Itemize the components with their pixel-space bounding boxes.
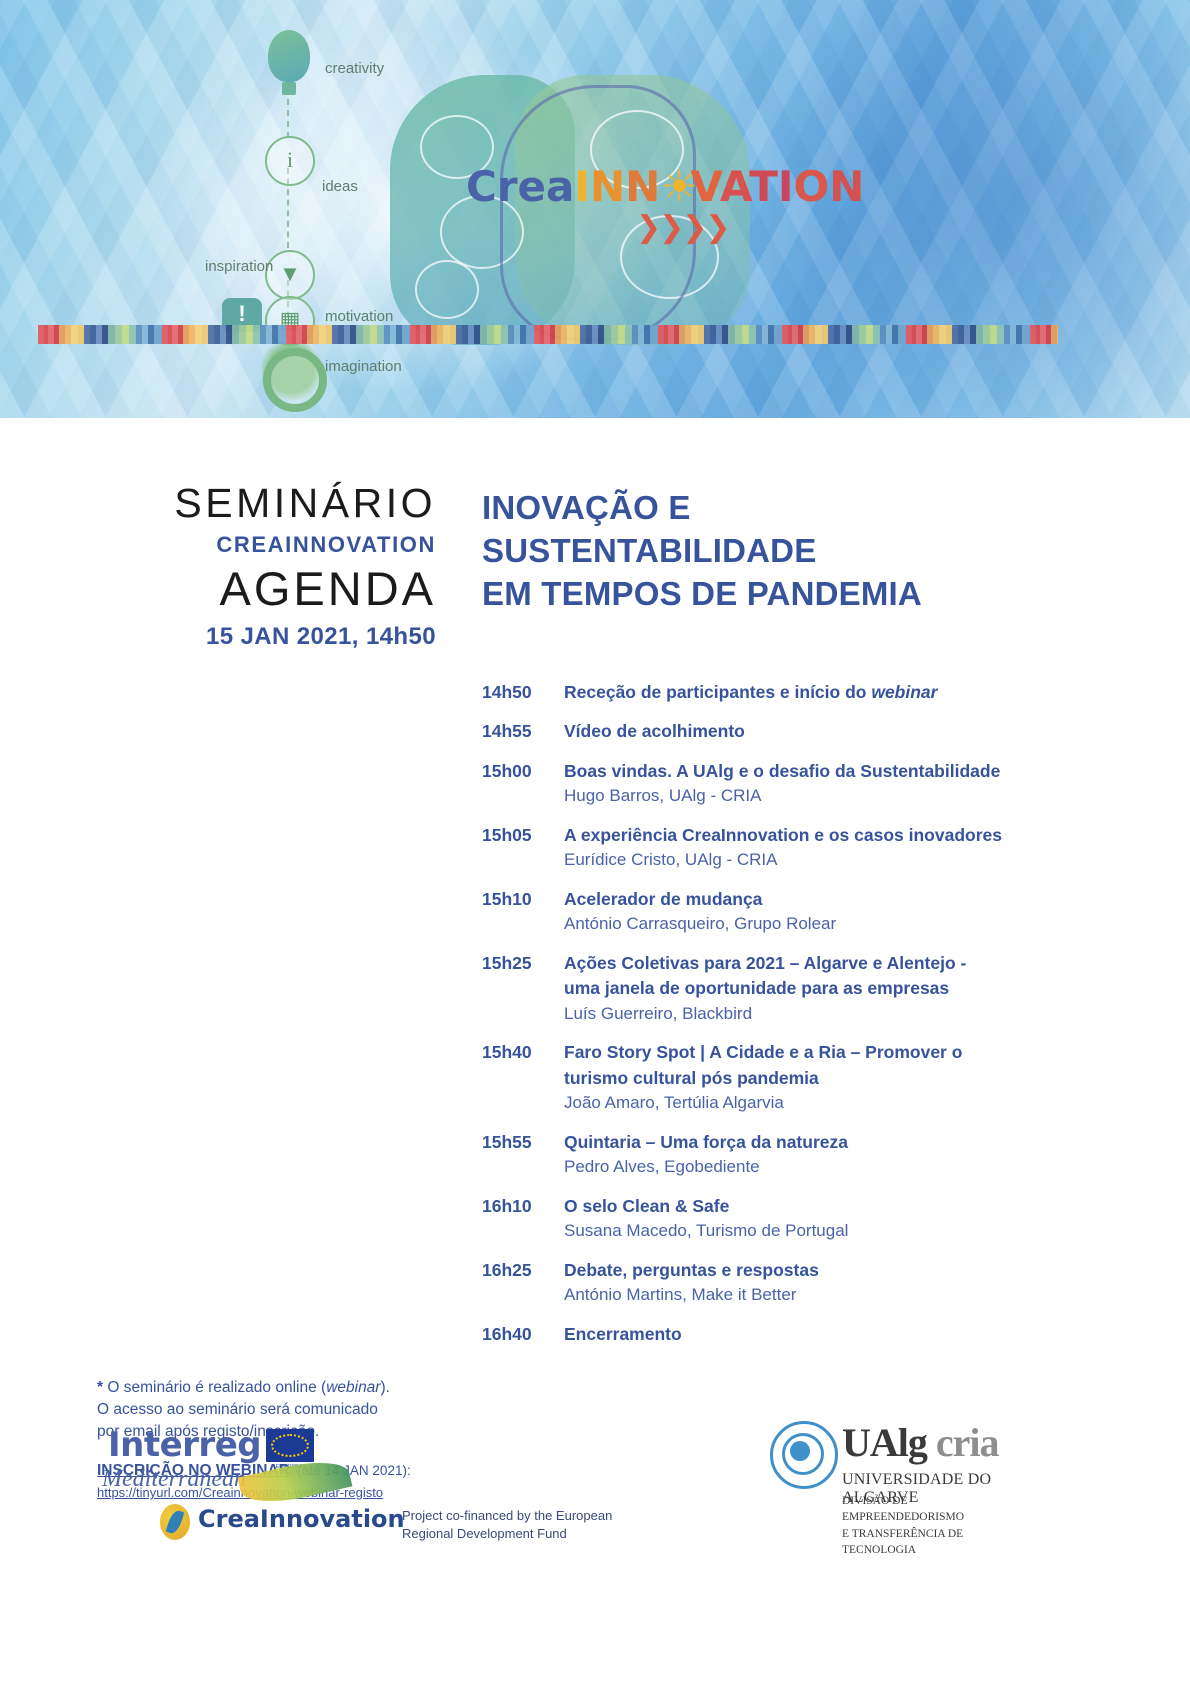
agenda-row-speaker: António Carrasqueiro, Grupo Rolear <box>564 912 1122 937</box>
agenda-row-time: 15h25 <box>482 951 564 976</box>
agenda-row-time: 15h10 <box>482 887 564 912</box>
creainnovation-wordmark: CreaINN☀VATION <box>466 162 864 211</box>
eu-flag-icon <box>266 1429 314 1462</box>
agenda-row-topic: Vídeo de acolhimento <box>564 719 1122 744</box>
agenda-row-body: Acelerador de mudançaAntónio Carrasqueir… <box>564 887 1122 937</box>
agenda-row-topic: Ações Coletivas para 2021 – Algarve e Al… <box>564 951 1122 1002</box>
agenda-row: 16h40Encerramento <box>482 1322 1122 1347</box>
ualg-wordmark: UAlg <box>842 1420 927 1465</box>
agenda-schedule-list: 14h50Receção de participantes e início d… <box>482 680 1122 1361</box>
agenda-row-speaker: Luís Guerreiro, Blackbird <box>564 1002 1122 1027</box>
interreg-wordmark: Interreg <box>108 1425 261 1465</box>
agenda-row-speaker: Susana Macedo, Turismo de Portugal <box>564 1219 1122 1244</box>
agenda-row-body: Quintaria – Uma força da naturezaPedro A… <box>564 1130 1122 1180</box>
agenda-row-speaker: João Amaro, Tertúlia Algarvia <box>564 1091 1122 1116</box>
brand-label: CREAINNOVATION <box>0 534 436 556</box>
agenda-row-time: 15h55 <box>482 1130 564 1155</box>
agenda-row: 16h10O selo Clean & SafeSusana Macedo, T… <box>482 1194 1122 1244</box>
agenda-row-topic: Boas vindas. A UAlg e o desafio da Suste… <box>564 759 1122 784</box>
page-title-line-2: SUSTENTABILIDADE <box>482 530 1102 573</box>
footer-logos: Interreg EUROPEAN UNION Mediterranean Cr… <box>0 1425 1190 1683</box>
agenda-row-speaker: Hugo Barros, UAlg - CRIA <box>564 784 1122 809</box>
agenda-row: 14h55Vídeo de acolhimento <box>482 719 1122 744</box>
wordmark-crea: Crea <box>466 162 574 211</box>
agenda-row-topic: Faro Story Spot | A Cidade e a Ria – Pro… <box>564 1040 1122 1091</box>
agenda-row-body: Encerramento <box>564 1322 1122 1347</box>
chain-label-inspiration: inspiration <box>205 258 273 275</box>
division-name: DIVISÃO DE EMPREENDEDORISMO E TRANSFERÊN… <box>842 1493 1030 1558</box>
agenda-row-topic: Encerramento <box>564 1322 1122 1347</box>
seminar-heading-block: SEMINÁRIO CREAINNOVATION AGENDA 15 JAN 2… <box>0 483 436 649</box>
page-title-line-3: EM TEMPOS DE PANDEMIA <box>482 573 1102 616</box>
gear-icon <box>263 348 327 412</box>
agenda-row-speaker: Pedro Alves, Egobediente <box>564 1155 1122 1180</box>
agenda-row-time: 15h40 <box>482 1040 564 1065</box>
agenda-row-time: 16h25 <box>482 1258 564 1283</box>
agenda-row-time: 16h10 <box>482 1194 564 1219</box>
crea-leaf-icon <box>160 1504 190 1540</box>
page-title: INOVAÇÃO E SUSTENTABILIDADE EM TEMPOS DE… <box>482 487 1102 616</box>
hero-banner: creativity i ideas ▼ inspiration ! ▦ mot… <box>0 0 1190 418</box>
chain-label-motivation: motivation <box>325 308 393 325</box>
cofinance-statement: Project co-financed by the European Regi… <box>402 1507 612 1542</box>
lightbulb-icon <box>268 30 310 82</box>
agenda-row-time: 16h40 <box>482 1322 564 1347</box>
creainnovation-footer-wordmark: CreaInnovation <box>198 1505 405 1533</box>
agenda-row-topic: O selo Clean & Safe <box>564 1194 1122 1219</box>
agenda-row: 14h50Receção de participantes e início d… <box>482 680 1122 705</box>
agenda-row-time: 14h55 <box>482 719 564 744</box>
agenda-row-speaker: António Martins, Make it Better <box>564 1283 1122 1308</box>
agenda-row-speaker: Eurídice Cristo, UAlg - CRIA <box>564 848 1122 873</box>
agenda-row-body: Vídeo de acolhimento <box>564 719 1122 744</box>
cria-wordmark: cria <box>936 1420 999 1465</box>
cofinance-line-1: Project co-financed by the European <box>402 1507 612 1525</box>
agenda-row: 15h00Boas vindas. A UAlg e o desafio da … <box>482 759 1122 809</box>
footnote-line-1: * O seminário é realizado online (webina… <box>97 1377 477 1399</box>
agenda-row-body: Ações Coletivas para 2021 – Algarve e Al… <box>564 951 1122 1026</box>
chain-label-ideas: ideas <box>322 178 358 195</box>
agenda-row: 15h10Acelerador de mudançaAntónio Carras… <box>482 887 1122 937</box>
ualg-cria-logo: UAlg cria UNIVERSIDADE DO ALGARVE DIVISÃ… <box>770 1419 1030 1549</box>
agenda-row-time: 14h50 <box>482 680 564 705</box>
ualg-cria-wordmark: UAlg cria <box>842 1419 999 1466</box>
agenda-row-topic: A experiência CreaInnovation e os casos … <box>564 823 1122 848</box>
agenda-row-time: 15h05 <box>482 823 564 848</box>
agenda-row-topic: Receção de participantes e início do web… <box>564 680 1122 705</box>
eu-stars-icon <box>271 1434 309 1457</box>
agenda-row: 15h25Ações Coletivas para 2021 – Algarve… <box>482 951 1122 1026</box>
event-datetime: 15 JAN 2021, 14h50 <box>0 625 436 649</box>
agenda-row-topic: Debate, perguntas e respostas <box>564 1258 1122 1283</box>
agenda-row: 16h25Debate, perguntas e respostasAntóni… <box>482 1258 1122 1308</box>
agenda-row: 15h05A experiência CreaInnovation e os c… <box>482 823 1122 873</box>
rainbow-color-bar <box>38 325 1058 344</box>
division-line-1: DIVISÃO DE EMPREENDEDORISMO <box>842 1493 1030 1526</box>
agenda-row: 15h55Quintaria – Uma força da naturezaPe… <box>482 1130 1122 1180</box>
agenda-label: AGENDA <box>0 564 436 613</box>
chain-label-creativity: creativity <box>325 60 384 77</box>
agenda-row-time: 15h00 <box>482 759 564 784</box>
footnote-line-2: O acesso ao seminário será comunicado <box>97 1399 477 1421</box>
seminario-label: SEMINÁRIO <box>0 483 436 524</box>
agenda-row-body: Debate, perguntas e respostasAntónio Mar… <box>564 1258 1122 1308</box>
page-title-line-1: INOVAÇÃO E <box>482 487 1102 530</box>
sun-icon: ☀ <box>660 162 690 211</box>
agenda-row-body: Faro Story Spot | A Cidade e a Ria – Pro… <box>564 1040 1122 1115</box>
division-line-2: E TRANSFERÊNCIA DE TECNOLOGIA <box>842 1526 1030 1559</box>
ualg-rings-icon <box>770 1421 838 1489</box>
chain-connector <box>287 88 291 138</box>
mediterranean-wordmark: Mediterranean <box>102 1466 246 1493</box>
agenda-row-body: Boas vindas. A UAlg e o desafio da Suste… <box>564 759 1122 809</box>
agenda-row-topic: Acelerador de mudança <box>564 887 1122 912</box>
agenda-row: 15h40Faro Story Spot | A Cidade e a Ria … <box>482 1040 1122 1115</box>
agenda-row-body: A experiência CreaInnovation e os casos … <box>564 823 1122 873</box>
chain-label-imagination: imagination <box>325 358 402 375</box>
agenda-row-body: Receção de participantes e início do web… <box>564 680 1122 705</box>
info-circle-icon: i <box>265 136 315 186</box>
chevron-arrows-icon: ❯❯❯❯ <box>636 210 729 245</box>
interreg-mediterranean-logo: Interreg EUROPEAN UNION Mediterranean Cr… <box>98 1425 428 1545</box>
agenda-row-topic: Quintaria – Uma força da natureza <box>564 1130 1122 1155</box>
agenda-row-body: O selo Clean & SafeSusana Macedo, Turism… <box>564 1194 1122 1244</box>
cofinance-line-2: Regional Development Fund <box>402 1525 612 1543</box>
